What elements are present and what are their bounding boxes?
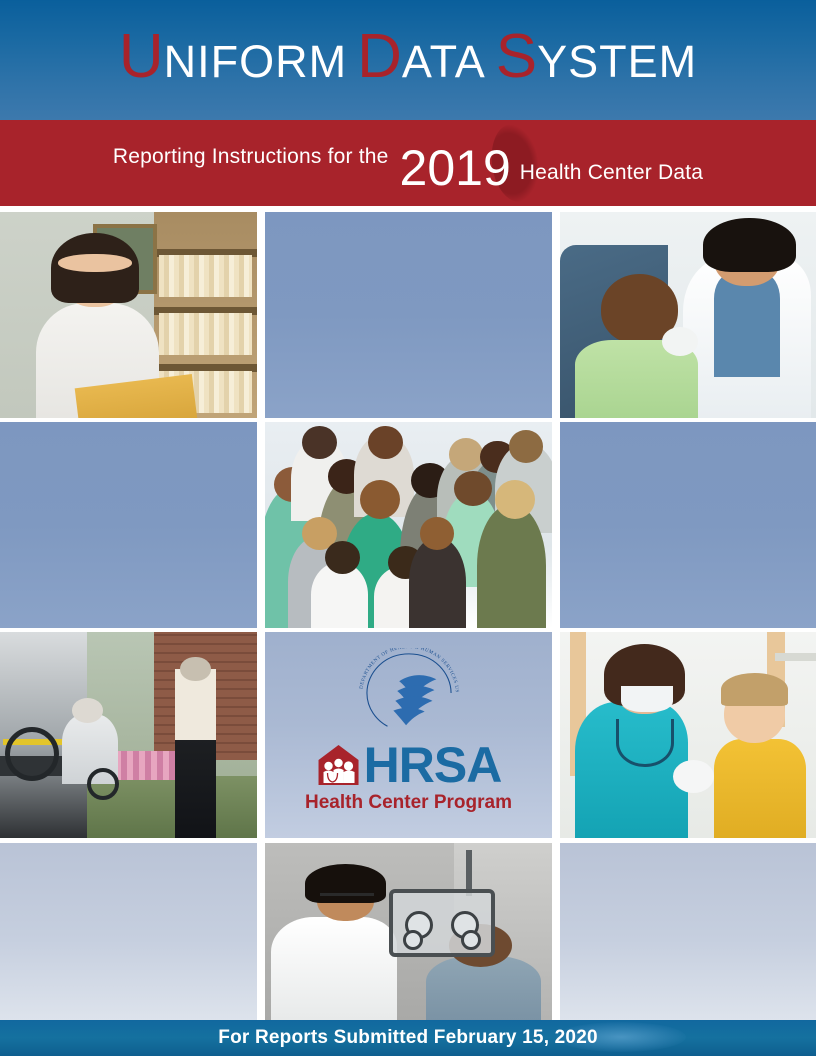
title-initial-d: D — [357, 22, 402, 91]
banner-tail-text: Health Center Data — [520, 161, 703, 185]
face-mask — [621, 686, 672, 713]
file-stack — [159, 255, 252, 297]
file-stack — [159, 313, 252, 355]
placeholder-top-center — [265, 212, 552, 418]
document-cover-page: UNIFORMDATASYSTEM Reporting Instructions… — [0, 0, 816, 1056]
banner-year: 2019 — [400, 139, 511, 197]
wheelchair-wheel — [5, 727, 59, 781]
photo-vision-exam-phoropter — [265, 843, 552, 1020]
footer-text: For Reports Submitted February 15, 2020 — [0, 1020, 816, 1056]
title-initial-u: U — [119, 22, 164, 91]
placeholder-bottom-left — [0, 843, 257, 1020]
cover-footer-banner: For Reports Submitted February 15, 2020 — [0, 1020, 816, 1056]
placeholder-bottom-right — [560, 843, 816, 1020]
wall-shelf — [775, 653, 816, 661]
attendant-head — [180, 657, 211, 682]
optometrist-coat — [271, 917, 397, 1020]
subtitle-banner: Reporting Instructions for the 2019 Heal… — [0, 120, 816, 206]
photo-nurse-immunizing-toddler — [560, 632, 816, 838]
hhs-seal-icon: DEPARTMENT OF HEALTH & HUMAN SERVICES US… — [339, 648, 479, 738]
banner-lead-text: Reporting Instructions for the — [113, 145, 389, 169]
hrsa-logo: DEPARTMENT OF HEALTH & HUMAN SERVICES US… — [265, 632, 552, 838]
page-title: UNIFORMDATASYSTEM — [0, 26, 816, 88]
title-rest-uniform: NIFORM — [164, 36, 347, 87]
photo-diverse-community-group — [265, 422, 552, 628]
gloved-hand — [673, 760, 714, 793]
title-word-data: DATA — [357, 26, 486, 88]
photo-health-center-staff-records — [0, 212, 257, 418]
banner-text-row: Reporting Instructions for the 2019 Heal… — [0, 120, 816, 206]
photo-dental-exam-child — [560, 212, 816, 418]
seated-person-head — [72, 698, 103, 723]
placeholder-middle-right — [560, 422, 816, 628]
placeholder-middle-left — [0, 422, 257, 628]
attendant-body — [175, 669, 216, 838]
hrsa-house-icon — [316, 742, 362, 788]
hrsa-subtitle: Health Center Program — [305, 792, 512, 814]
title-rest-data: ATA — [402, 36, 486, 87]
photo-wheelchair-van-lift — [0, 632, 257, 838]
cover-header-banner: UNIFORMDATASYSTEM — [0, 0, 816, 120]
title-rest-system: YSTEM — [537, 36, 697, 87]
hrsa-wordmark: HRSA — [364, 740, 502, 790]
stethoscope — [616, 719, 673, 767]
title-word-uniform: UNIFORM — [119, 26, 347, 88]
toddler-shirt — [714, 739, 806, 838]
provider-head — [703, 218, 795, 272]
phoropter-device — [389, 889, 495, 957]
toddler-hair — [721, 673, 788, 706]
title-word-system: SYSTEM — [496, 26, 697, 88]
title-initial-s: S — [496, 22, 537, 91]
cover-photo-grid: DEPARTMENT OF HEALTH & HUMAN SERVICES US… — [0, 206, 816, 1020]
eyeglasses — [320, 893, 375, 907]
person-head — [51, 233, 138, 303]
hrsa-wordmark-block: HRSA Health Center Program — [305, 740, 512, 814]
provider-scrubs — [714, 274, 781, 377]
